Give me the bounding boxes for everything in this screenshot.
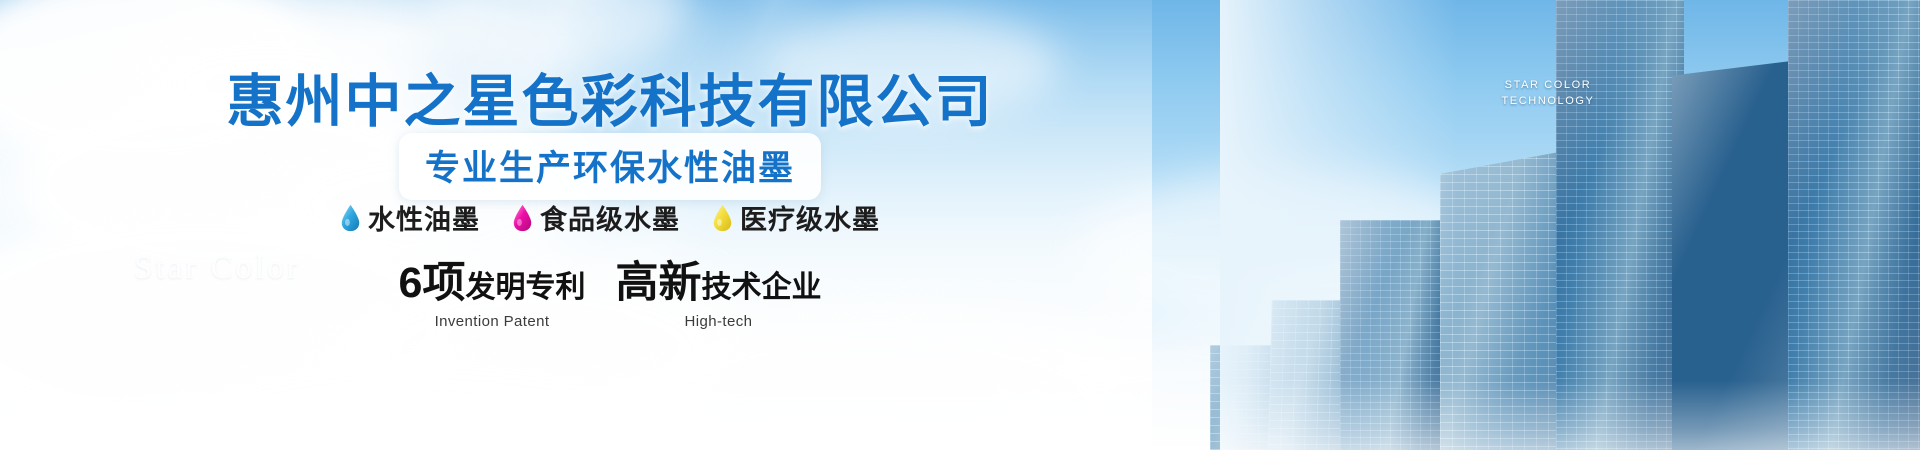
building: [1440, 150, 1570, 450]
badge-cn-line: 6项发明专利: [399, 262, 586, 305]
subtitle-pill: 专业生产环保水性油墨: [399, 133, 821, 200]
banner-content: 惠州中之星色彩科技有限公司 专业生产环保水性油墨 水性油墨: [0, 0, 1220, 450]
building: [1556, 0, 1684, 450]
feature-item: 医疗级水墨: [712, 198, 880, 237]
feature-item: 水性油墨: [340, 198, 480, 237]
company-title: 惠州中之星色彩科技有限公司: [0, 56, 1220, 138]
badge-small-text: 发明专利: [465, 271, 585, 304]
subtitle-pill-wrap: 专业生产环保水性油墨: [0, 133, 1220, 200]
badge-small-text: 技术企业: [701, 271, 821, 304]
building: [1340, 220, 1450, 450]
building: [1788, 0, 1920, 450]
badge-cn-line: 高新技术企业: [615, 262, 821, 305]
feature-list: 水性油墨 食品级水墨: [0, 198, 1220, 237]
credential-badges: 6项发明专利 Invention Patent 高新技术企业 High-tech: [0, 262, 1220, 330]
feature-item: 食品级水墨: [512, 198, 680, 237]
water-drop-icon: [712, 204, 733, 232]
hero-banner: Star Color STAR COLOR TECHNOLOGY 惠州中之星色彩…: [0, 0, 1920, 450]
water-drop-icon: [512, 204, 533, 232]
water-drop-icon: [340, 204, 361, 232]
skyline-photo: [1220, 0, 1920, 450]
badge-invention-patent: 6项发明专利 Invention Patent: [399, 262, 586, 330]
building: [1672, 60, 1800, 450]
feature-label: 医疗级水墨: [740, 198, 880, 237]
badge-big-text: 高新: [615, 259, 701, 307]
badge-en-text: High-tech: [615, 313, 821, 330]
feature-label: 水性油墨: [368, 198, 480, 237]
badge-high-tech: 高新技术企业 High-tech: [615, 262, 821, 330]
feature-label: 食品级水墨: [540, 198, 680, 237]
badge-en-text: Invention Patent: [399, 313, 586, 330]
badge-big-text: 6项: [399, 259, 466, 307]
